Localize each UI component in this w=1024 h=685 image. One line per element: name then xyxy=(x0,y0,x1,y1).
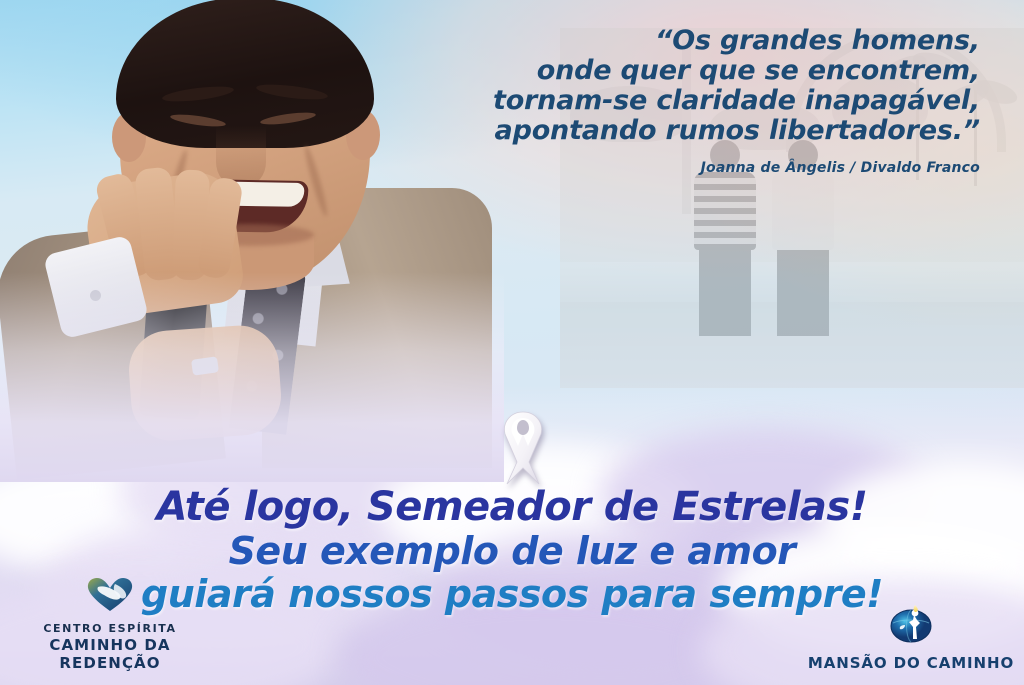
headline-line-2: Seu exemplo de luz e amor xyxy=(0,532,1024,571)
portrait-divaldo-franco xyxy=(0,0,474,462)
quote-line-1: “Os grandes homens, xyxy=(420,26,980,56)
memorial-poster: “Os grandes homens, onde quer que se enc… xyxy=(0,0,1024,685)
quote-line-2: onde quer que se encontrem, xyxy=(420,56,980,86)
logo-mansao-do-caminho: MANSÃO DO CAMINHO xyxy=(806,603,1016,673)
globe-figure-flame-icon xyxy=(806,603,1016,650)
mourning-ribbon-icon xyxy=(487,404,559,488)
logo-centro-espirita: CENTRO ESPÍRITA CAMINHO DA REDENÇÃO xyxy=(10,575,210,673)
headline-line-1: Até logo, Semeador de Estrelas! xyxy=(0,487,1024,528)
quote-block: “Os grandes homens, onde quer que se enc… xyxy=(420,26,980,176)
quote-attribution: Joanna de Ângelis / Divaldo Franco xyxy=(420,160,980,176)
logo-right-line-1: MANSÃO DO CAMINHO xyxy=(806,654,1016,673)
quote-line-3: tornam-se claridade inapagável, xyxy=(420,86,980,116)
quote-line-4: apontando rumos libertadores.” xyxy=(420,116,980,146)
heart-hands-icon xyxy=(10,575,210,618)
logo-left-line-1: CENTRO ESPÍRITA xyxy=(10,622,210,635)
logo-left-line-2: CAMINHO DA REDENÇÃO xyxy=(10,636,210,674)
